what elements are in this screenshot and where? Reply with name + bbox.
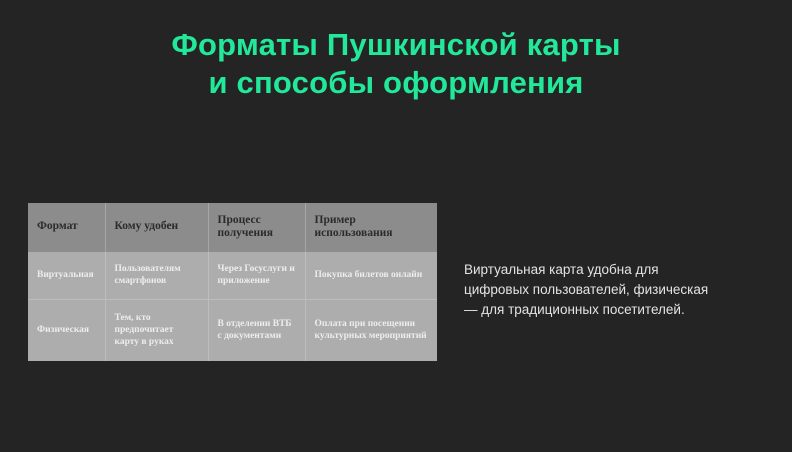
column-header-who: Кому удобен: [105, 203, 208, 252]
summary-note-line-3: — для традиционных посетителей.: [464, 300, 764, 320]
cell-example-physical: Оплата при посещении культурных мероприя…: [305, 300, 437, 362]
cell-format-physical: Физическая: [28, 300, 105, 362]
cell-example-virtual: Покупка билетов онлайн: [305, 252, 437, 300]
summary-note-line-1: Виртуальная карта удобна для: [464, 260, 764, 280]
cell-format-virtual: Виртуальная: [28, 252, 105, 300]
title-line-1: Форматы Пушкинской карты: [0, 26, 792, 64]
page-title: Форматы Пушкинской карты и способы оформ…: [0, 26, 792, 102]
column-header-process: Процесс получения: [208, 203, 305, 252]
title-line-2: и способы оформления: [0, 64, 792, 102]
card-format-comparison-table: Формат Кому удобен Процесс получения При…: [28, 203, 437, 361]
column-header-example: Пример использования: [305, 203, 437, 252]
cell-who-virtual: Пользователям смартфонов: [105, 252, 208, 300]
cell-who-physical: Тем, кто предпочитает карту в руках: [105, 300, 208, 362]
table-header-row: Формат Кому удобен Процесс получения При…: [28, 203, 437, 252]
slide-canvas: Форматы Пушкинской карты и способы оформ…: [0, 0, 792, 452]
summary-note-line-2: цифровых пользователей, физическая: [464, 280, 764, 300]
summary-note: Виртуальная карта удобна для цифровых по…: [464, 260, 764, 320]
table-row: Физическая Тем, кто предпочитает карту в…: [28, 300, 437, 362]
cell-process-physical: В отделении ВТБ с документами: [208, 300, 305, 362]
column-header-format: Формат: [28, 203, 105, 252]
cell-process-virtual: Через Госуслуги и приложение: [208, 252, 305, 300]
table-row: Виртуальная Пользователям смартфонов Чер…: [28, 252, 437, 300]
